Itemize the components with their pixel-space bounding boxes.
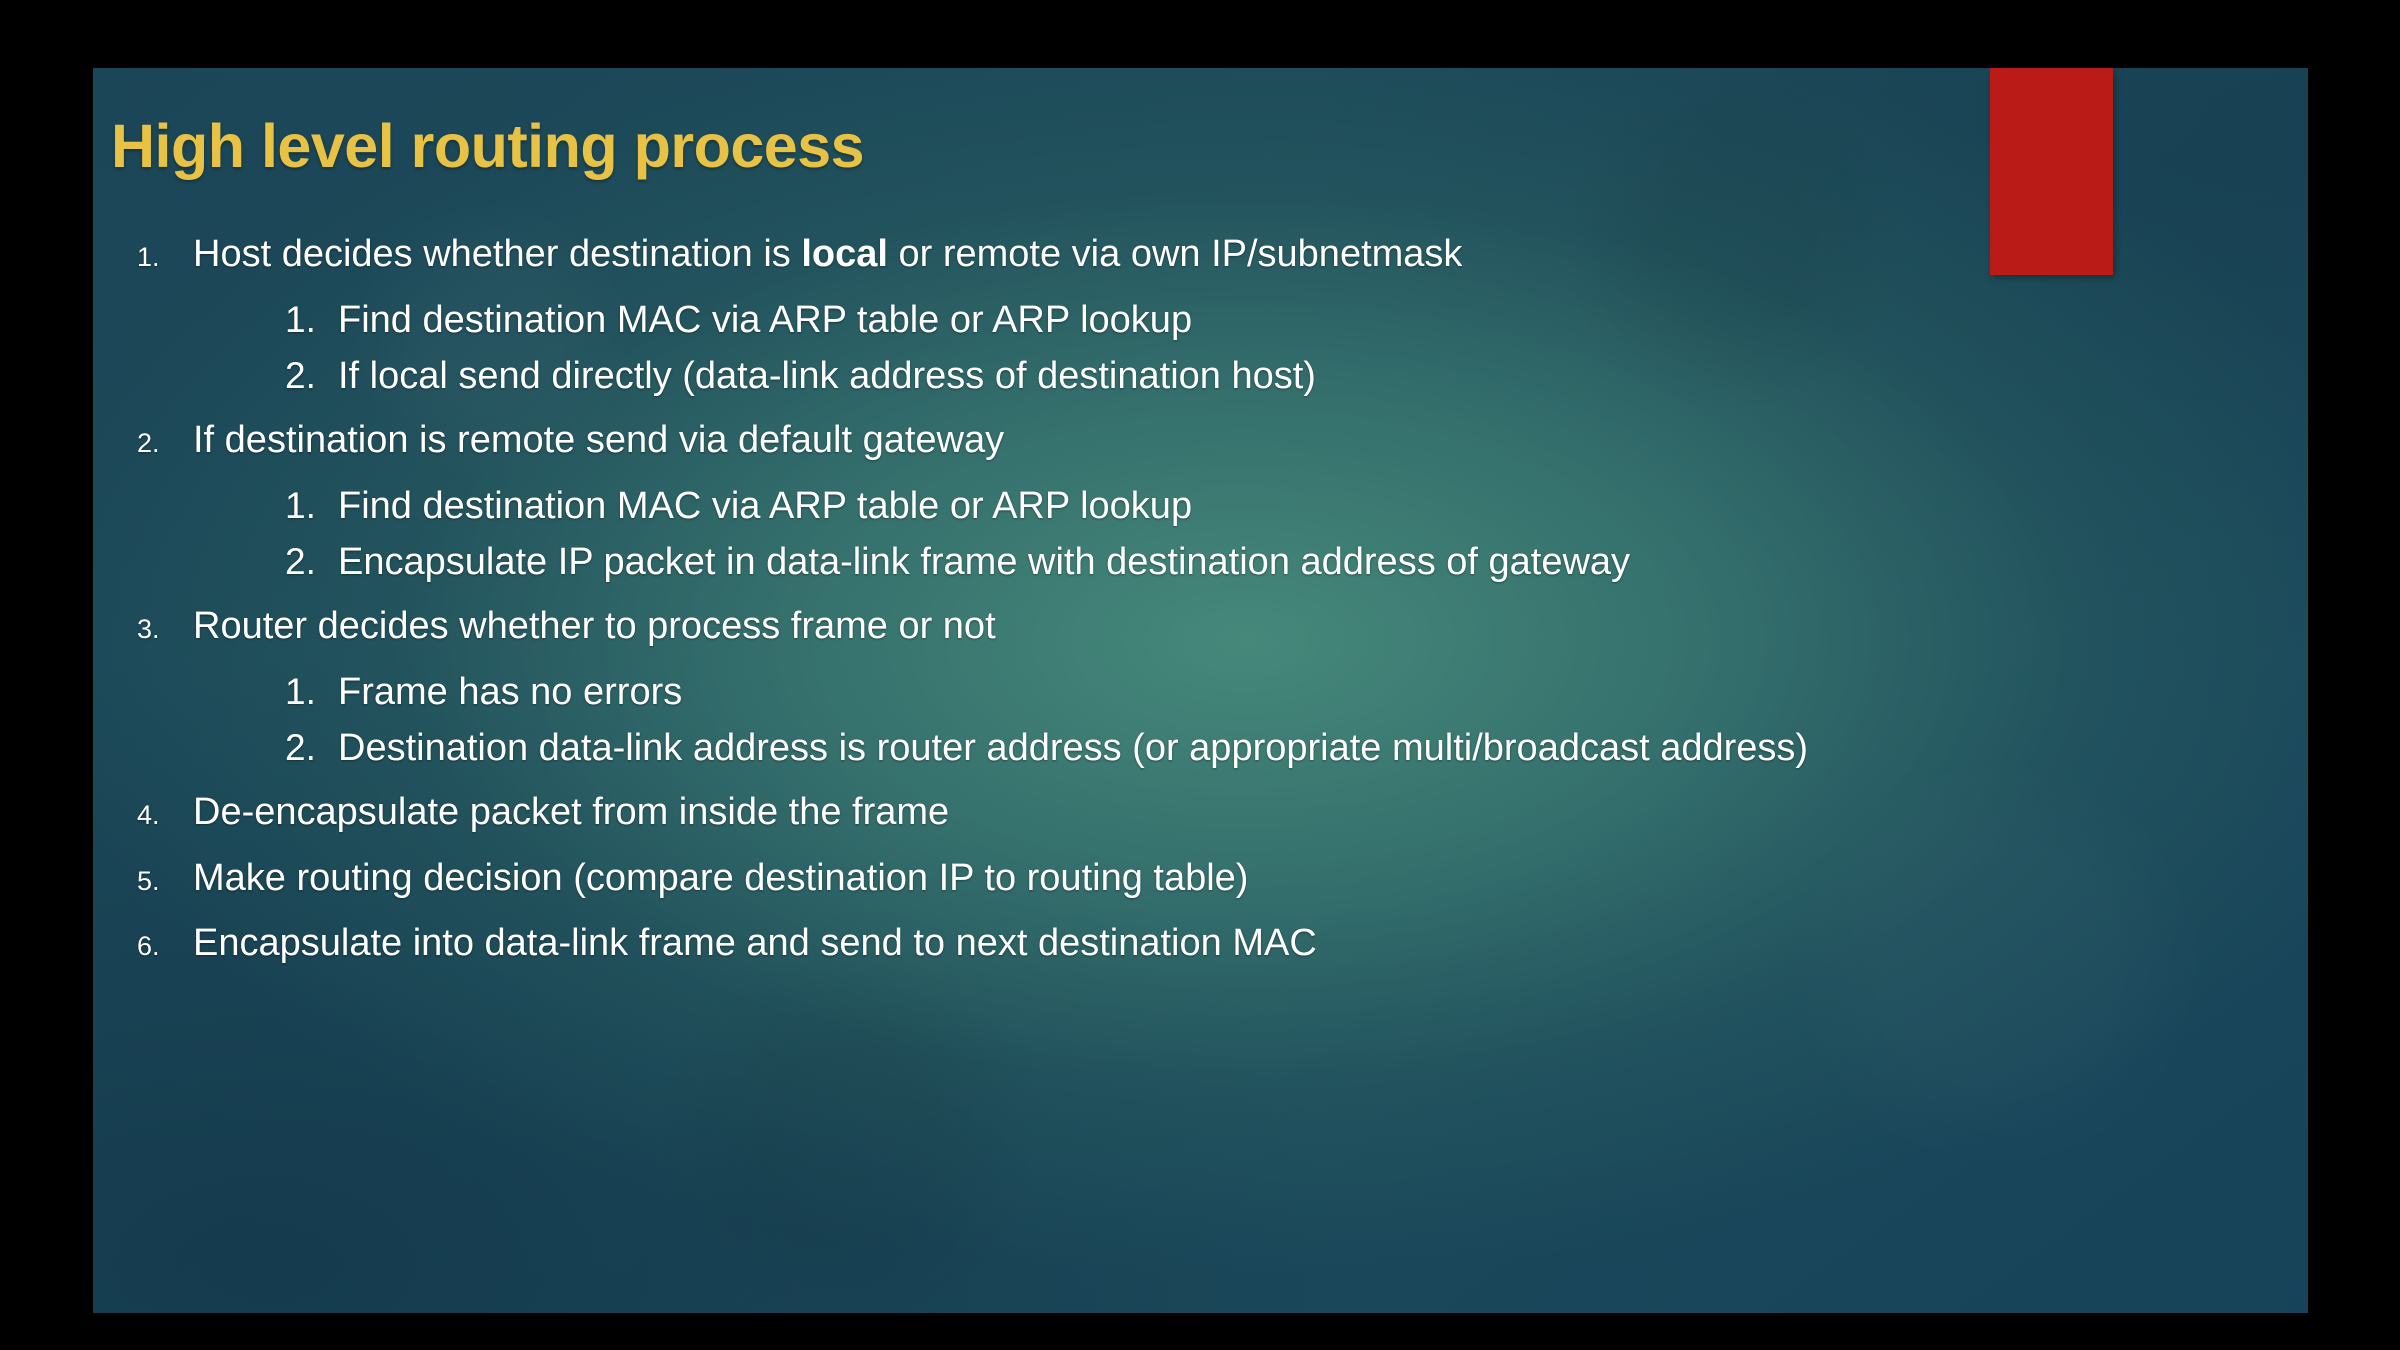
sub-list-item-label: If local send directly (data-link addres…	[338, 350, 1316, 404]
list-item-label: If destination is remote send via defaul…	[193, 414, 1004, 468]
sub-list-item-label: Destination data-link address is router …	[338, 722, 1808, 776]
list-item-marker: 6.	[137, 931, 193, 962]
sub-list: 1.Find destination MAC via ARP table or …	[115, 480, 2275, 590]
slide-stage: High level routing process 1.Host decide…	[0, 0, 2400, 1350]
list-item-label: Encapsulate into data-link frame and sen…	[193, 917, 1317, 971]
list-item-marker: 4.	[137, 800, 193, 831]
sub-list-item-marker: 2.	[285, 727, 338, 769]
sub-list-item: 2.Destination data-link address is route…	[115, 722, 2275, 776]
emphasis-local: local	[801, 233, 888, 275]
sub-list-item: 1.Find destination MAC via ARP table or …	[115, 480, 2275, 534]
routing-steps-list: 1.Host decides whether destination is lo…	[115, 228, 2275, 983]
list-item: 1.Host decides whether destination is lo…	[115, 228, 2275, 282]
list-item: 6.Encapsulate into data-link frame and s…	[115, 917, 2275, 971]
list-item-marker: 1.	[137, 242, 193, 273]
slide-title: High level routing process	[111, 114, 864, 178]
sub-list: 1.Frame has no errors2.Destination data-…	[115, 666, 2275, 776]
list-item: 5.Make routing decision (compare destina…	[115, 852, 2275, 906]
sub-list-item-marker: 2.	[285, 541, 338, 583]
sub-list-item-label: Encapsulate IP packet in data-link frame…	[338, 536, 1630, 590]
list-item-label: Make routing decision (compare destinati…	[193, 852, 1248, 906]
sub-list-item: 2.If local send directly (data-link addr…	[115, 350, 2275, 404]
list-item-label: De-encapsulate packet from inside the fr…	[193, 786, 949, 840]
list-item: 2.If destination is remote send via defa…	[115, 414, 2275, 468]
list-item-label: Router decides whether to process frame …	[193, 600, 996, 654]
list-item-marker: 3.	[137, 614, 193, 645]
list-item: 3.Router decides whether to process fram…	[115, 600, 2275, 654]
sub-list-item-marker: 1.	[285, 299, 338, 341]
sub-list-item-label: Frame has no errors	[338, 666, 682, 720]
list-item-marker: 2.	[137, 428, 193, 459]
sub-list-item-label: Find destination MAC via ARP table or AR…	[338, 294, 1192, 348]
sub-list-item-marker: 1.	[285, 485, 338, 527]
list-item-label: Host decides whether destination is loca…	[193, 228, 1462, 282]
presentation-slide: High level routing process 1.Host decide…	[93, 68, 2308, 1313]
sub-list-item: 1.Find destination MAC via ARP table or …	[115, 294, 2275, 348]
sub-list-item: 2.Encapsulate IP packet in data-link fra…	[115, 536, 2275, 590]
sub-list-item-marker: 1.	[285, 671, 338, 713]
sub-list: 1.Find destination MAC via ARP table or …	[115, 294, 2275, 404]
sub-list-item-marker: 2.	[285, 355, 338, 397]
sub-list-item: 1.Frame has no errors	[115, 666, 2275, 720]
list-item: 4.De-encapsulate packet from inside the …	[115, 786, 2275, 840]
sub-list-item-label: Find destination MAC via ARP table or AR…	[338, 480, 1192, 534]
list-item-marker: 5.	[137, 866, 193, 897]
